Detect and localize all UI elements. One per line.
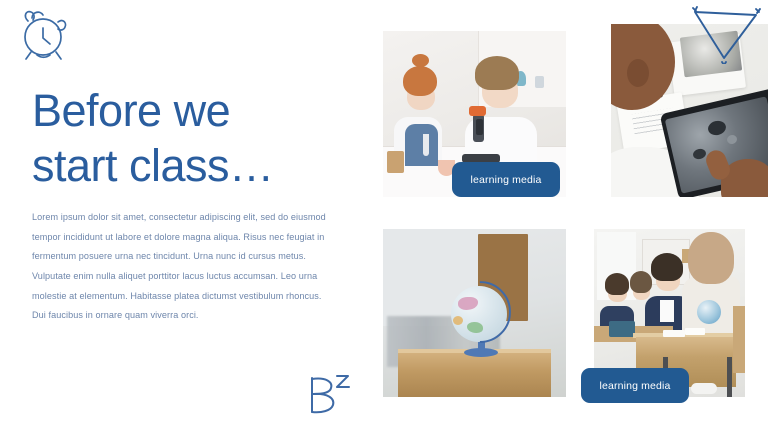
badge-learning-media-top[interactable]: learning media	[452, 162, 560, 197]
photo-tablet-moon-study	[611, 24, 768, 197]
badge-label: learning media	[600, 380, 671, 392]
badge-label: learning media	[471, 174, 542, 186]
slide-canvas: Before we start class… Lorem ipsum dolor…	[0, 0, 768, 432]
b-z-sleep-icon	[300, 370, 356, 418]
body-paragraph: Lorem ipsum dolor sit amet, consectetur …	[32, 208, 332, 326]
alarm-clock-icon	[12, 6, 74, 62]
photo-classroom-globe	[383, 229, 566, 397]
page-title: Before we start class…	[32, 84, 362, 194]
badge-learning-media-bottom[interactable]: learning media	[581, 368, 689, 403]
